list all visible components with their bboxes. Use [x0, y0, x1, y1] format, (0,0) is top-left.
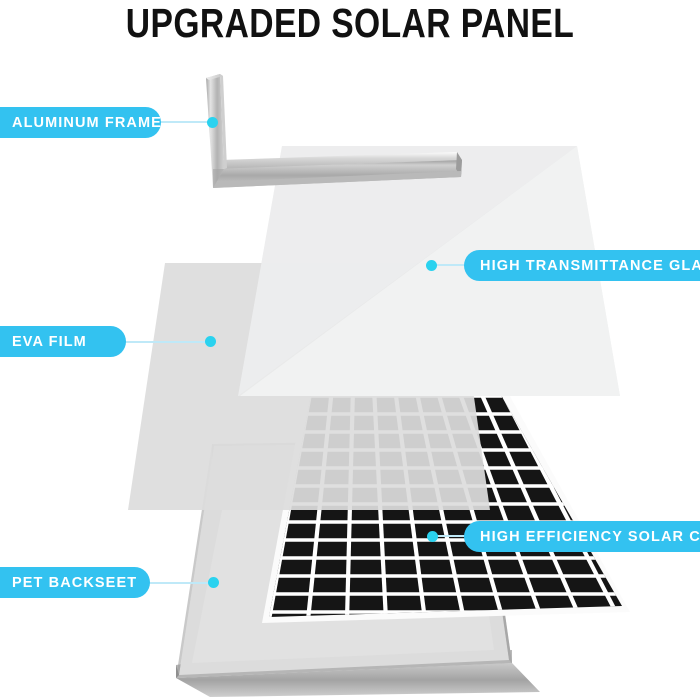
- page-title: UPGRADED SOLAR PANEL: [63, 1, 637, 45]
- leader-line-pet-backseet: [148, 582, 214, 584]
- leader-line-eva-film: [124, 341, 212, 343]
- callout-label-high-efficiency-solar-cells: HIGH EFFICIENCY SOLAR CELLS: [480, 530, 700, 545]
- callout-pet-backseet[interactable]: PET BACKSEET: [0, 567, 150, 598]
- callout-high-efficiency-solar-cells[interactable]: HIGH EFFICIENCY SOLAR CELLS: [464, 521, 700, 552]
- callout-dot-high-efficiency-solar-cells: [427, 531, 438, 542]
- callout-label-eva-film: EVA FILM: [12, 335, 87, 350]
- callout-label-high-transmittance-glass: HIGH TRANSMITTANCE GLASS: [480, 259, 700, 274]
- callout-dot-eva-film: [205, 336, 216, 347]
- leader-line-aluminum-frame: [159, 121, 213, 123]
- infographic-canvas: UPGRADED SOLAR PANEL ALUMINUM FRAME HIGH…: [0, 0, 700, 700]
- callout-dot-high-transmittance-glass: [426, 260, 437, 271]
- callout-eva-film[interactable]: EVA FILM: [0, 326, 126, 357]
- aluminum-frame-layer: [206, 74, 462, 188]
- callout-label-aluminum-frame: ALUMINUM FRAME: [12, 116, 162, 131]
- callout-dot-aluminum-frame: [207, 117, 218, 128]
- callout-dot-pet-backseet: [208, 577, 219, 588]
- callout-label-pet-backseet: PET BACKSEET: [12, 576, 137, 591]
- callout-aluminum-frame[interactable]: ALUMINUM FRAME: [0, 107, 161, 138]
- callout-high-transmittance-glass[interactable]: HIGH TRANSMITTANCE GLASS: [464, 250, 700, 281]
